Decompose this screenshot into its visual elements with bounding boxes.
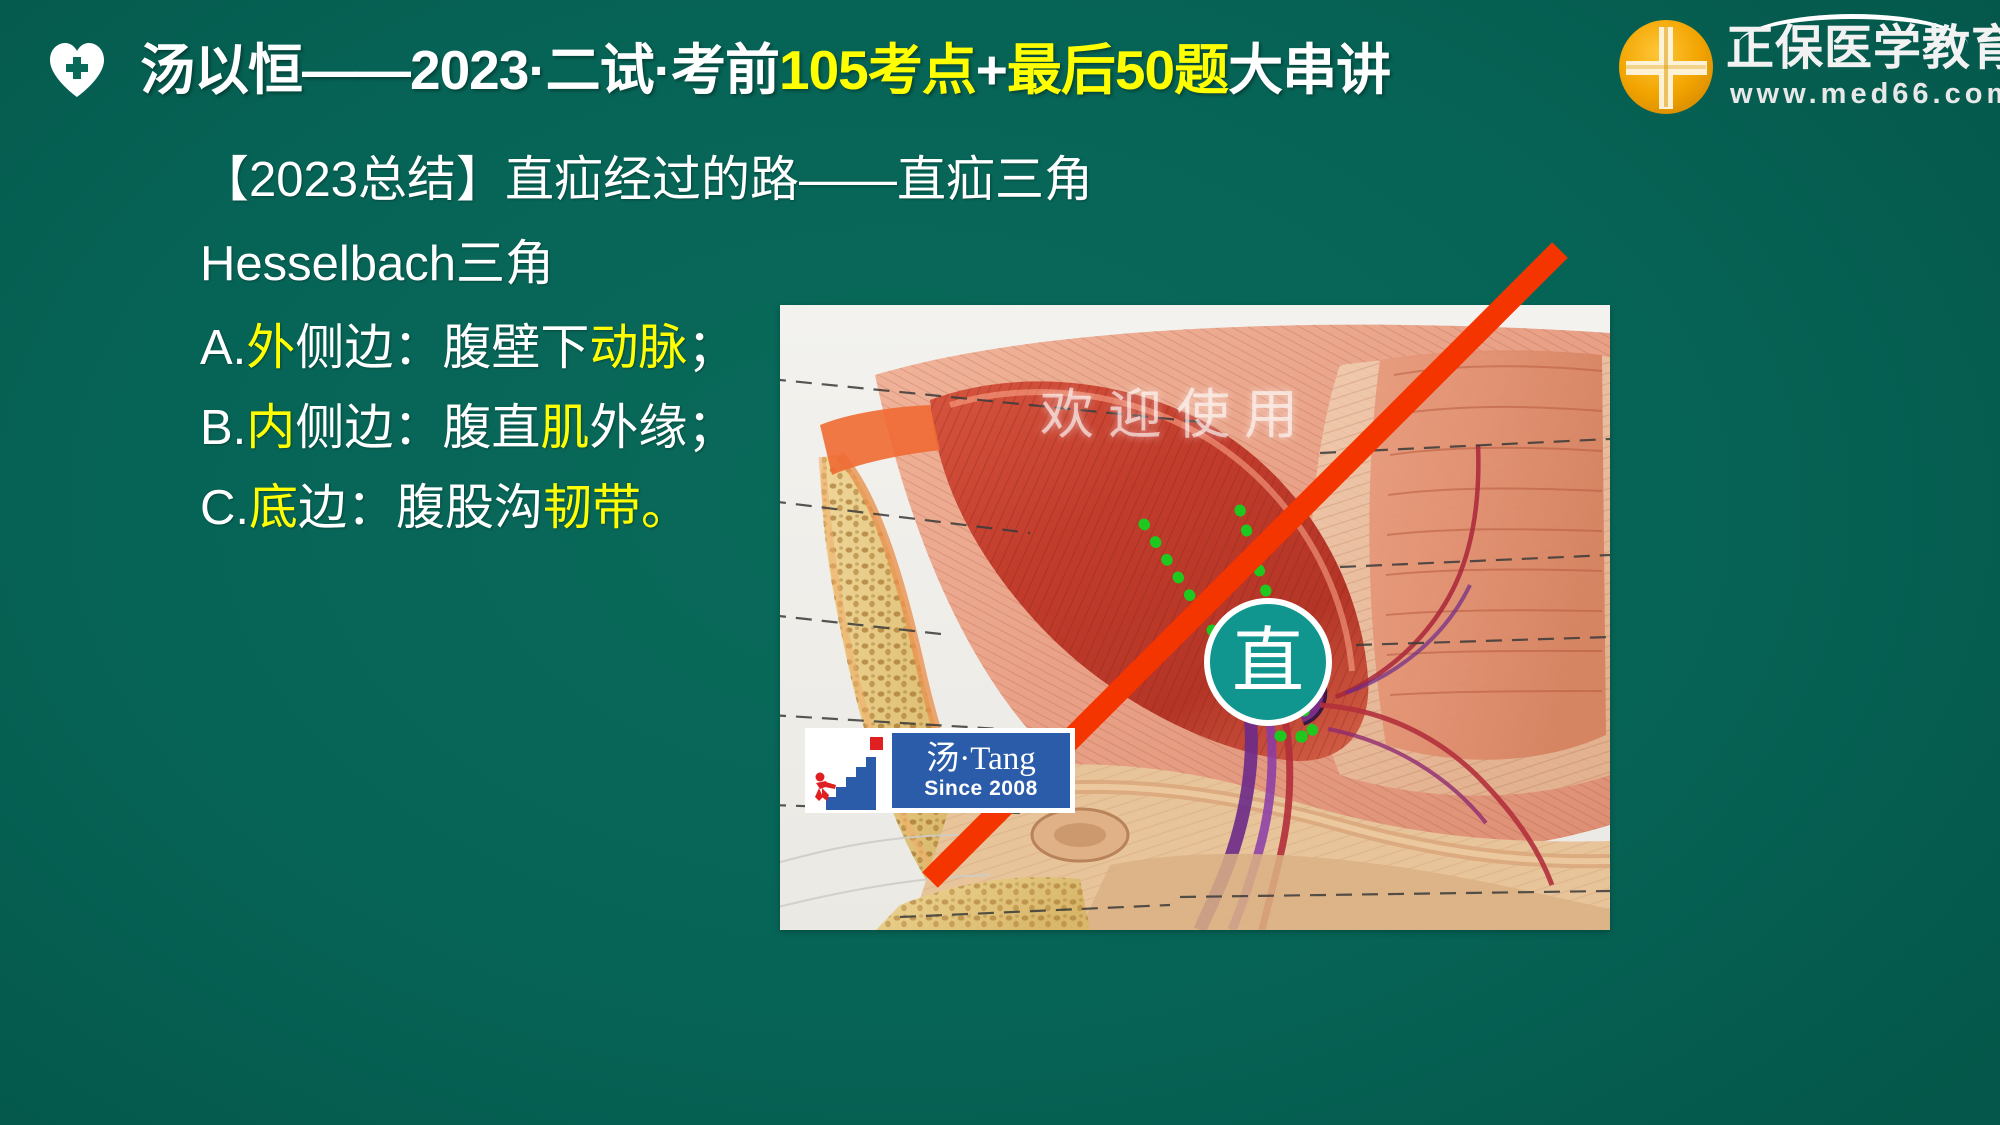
text-run-0: 【2023总结】直疝经过的路——直疝三角: [200, 153, 1093, 207]
slide-header: 汤以恒——2023·二试·考前105考点+最后50题大串讲 正保医学教育网 ww…: [0, 0, 2000, 140]
text-run-3: 最后50题: [1007, 39, 1228, 101]
text-run-2: 侧边：腹壁下: [295, 321, 589, 375]
heart-cross-icon: [48, 42, 106, 98]
text-run-2: 侧边：腹直: [295, 401, 540, 455]
slide-title: 汤以恒——2023·二试·考前105考点+最后50题大串讲: [140, 38, 1390, 102]
text-run-0: A.: [200, 321, 246, 375]
content-line-1: Hesselbach三角: [200, 239, 1020, 289]
text-run-4: 外缘；: [589, 401, 736, 455]
text-run-4: ；: [687, 321, 736, 375]
text-run-0: C.: [200, 481, 249, 535]
inguinal-region-anatomy-illustration: [780, 305, 1610, 930]
brand-url: www.med66.com: [1730, 78, 2000, 111]
text-run-1: 外: [246, 321, 295, 375]
gold-circle-cross-icon: [1618, 19, 1714, 115]
tang-watermark-logo: 汤·Tang Since 2008: [805, 728, 1075, 813]
text-run-0: B.: [200, 401, 246, 455]
tang-stairs-icon: [808, 731, 886, 810]
text-run-2: +: [976, 39, 1007, 101]
tang-title: 汤·Tang: [926, 741, 1036, 777]
content-line-0: 【2023总结】直疝经过的路——直疝三角: [200, 155, 1020, 205]
text-run-3: 动脉: [589, 321, 687, 375]
slide-root: 汤以恒——2023·二试·考前105考点+最后50题大串讲 正保医学教育网 ww…: [0, 0, 2000, 1125]
anatomy-figure: [780, 305, 1610, 930]
tang-text-box: 汤·Tang Since 2008: [890, 731, 1072, 810]
text-run-0: Hesselbach三角: [200, 237, 554, 291]
zhi-badge-label: 直: [1232, 626, 1304, 698]
brand-logo: 正保医学教育网 www.med66.com: [1618, 16, 1978, 120]
text-run-3: 韧带。: [543, 481, 690, 535]
text-run-1: 105考点: [779, 39, 976, 101]
text-run-2: 边：腹股沟: [298, 481, 543, 535]
text-run-0: 汤以恒——2023·二试·考前: [140, 39, 779, 101]
text-run-1: 内: [246, 401, 295, 455]
tang-since: Since 2008: [924, 777, 1038, 801]
text-run-4: 大串讲: [1228, 39, 1390, 101]
text-run-1: 底: [249, 481, 298, 535]
brand-name: 正保医学教育网: [1726, 21, 2000, 77]
zhi-badge: 直: [1204, 598, 1332, 726]
text-run-3: 肌: [540, 401, 589, 455]
